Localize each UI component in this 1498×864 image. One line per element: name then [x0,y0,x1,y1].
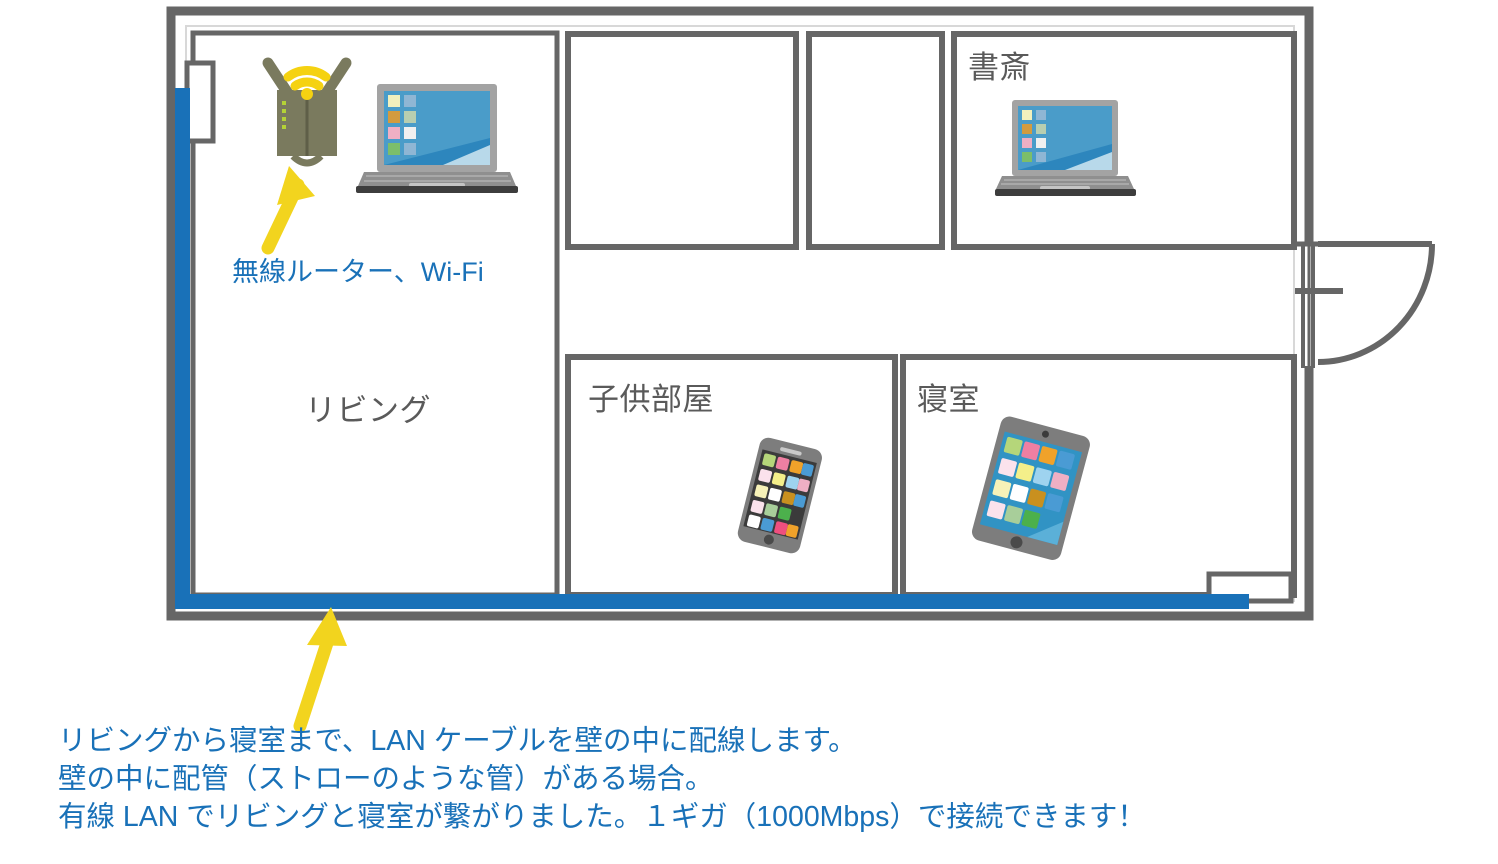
laptop-living-icon [356,84,518,193]
caption-line-3: 有線 LAN でリビングと寝室が繋がりました。１ギガ（1000Mbps）で接続で… [58,798,1146,836]
room-empty-b [809,34,942,247]
floor-plan-diagram: リビング 書斎 子供部屋 寝室 無線ルーター、Wi-Fi リビングから寝室まで、… [0,0,1498,864]
room-living [193,33,557,595]
room-label-bedroom: 寝室 [917,374,980,419]
room-empty-a [568,34,796,247]
cable-arrow-icon [300,607,347,726]
room-label-living: リビング [305,385,431,430]
room-label-kids: 子供部屋 [588,374,714,419]
caption-block: リビングから寝室まで、LAN ケーブルを壁の中に配線します。 壁の中に配管（スト… [58,722,1146,836]
entrance-door [1295,244,1432,368]
room-label-study: 書斎 [968,42,1031,87]
living-wall-outlet [187,63,213,141]
caption-line-1: リビングから寝室まで、LAN ケーブルを壁の中に配線します。 [58,722,1146,760]
router-callout-label: 無線ルーター、Wi-Fi [232,250,484,289]
laptop-study-icon [995,100,1136,196]
caption-line-2: 壁の中に配管（ストローのような管）がある場合。 [58,760,1146,798]
